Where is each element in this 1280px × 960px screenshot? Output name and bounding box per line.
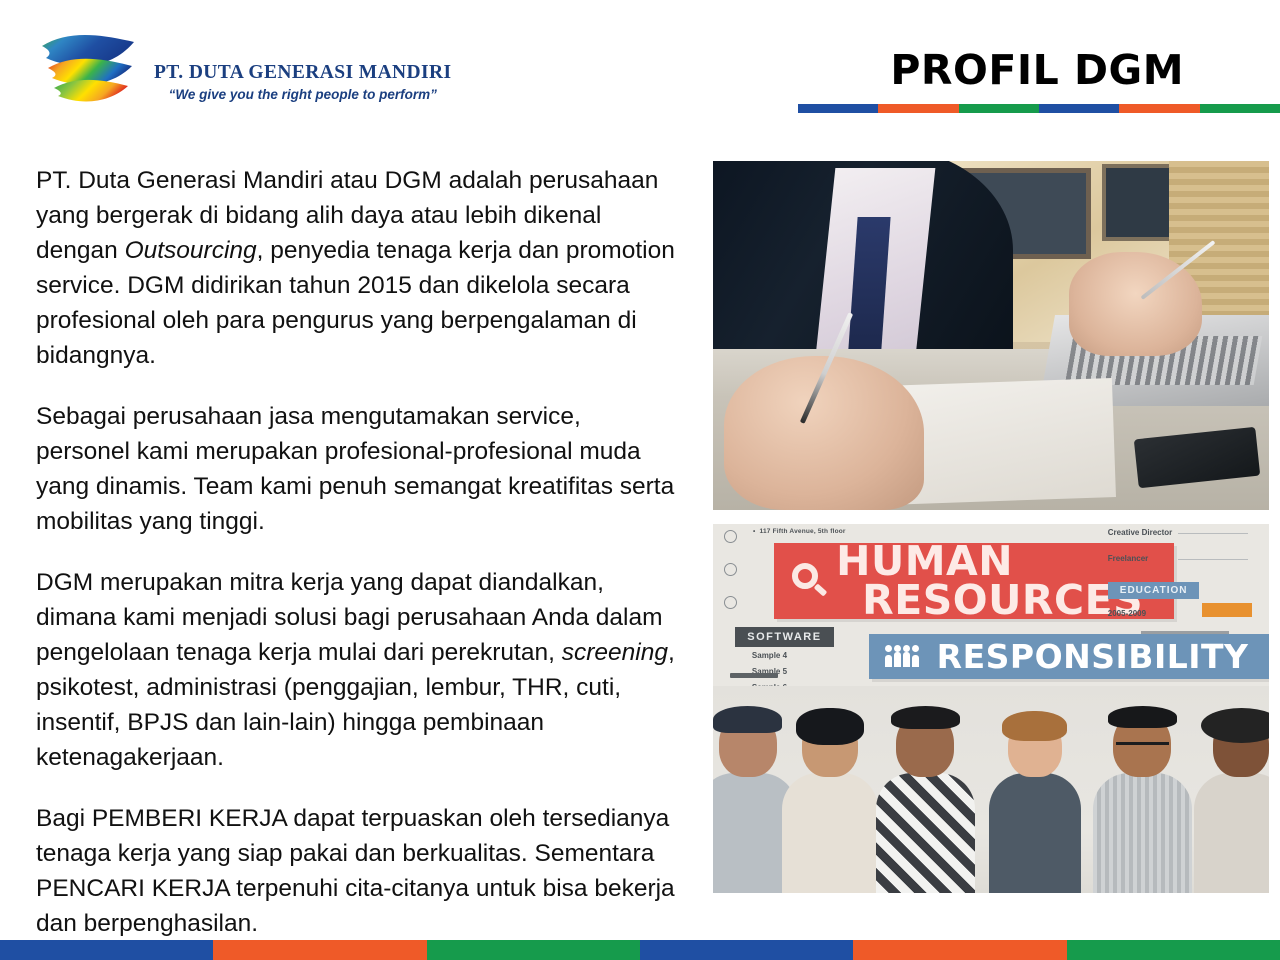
- team-member: [719, 712, 777, 893]
- hair: [891, 706, 961, 729]
- hair: [1108, 706, 1178, 728]
- accent-segment-4: [853, 940, 1066, 960]
- paragraph-p4: Bagi PEMBERI KERJA dapat terpuaskan oleh…: [36, 801, 678, 941]
- accent-segment-1: [878, 104, 958, 113]
- company-tagline: “We give you the right people to perform…: [154, 87, 451, 102]
- team-member: [802, 714, 858, 893]
- people-group-icon: [885, 645, 919, 667]
- plaid-shirt: [876, 773, 975, 893]
- list-item: Sample 4: [752, 648, 787, 664]
- company-name: PT. DUTA GENERASI MANDIRI: [154, 62, 451, 84]
- responsibility-banner-label: RESPONSIBILITY: [937, 637, 1249, 676]
- location-icon: [724, 530, 737, 543]
- hr-scene: 117 Fifth Avenue, 5th floor HUMAN RESOUR…: [713, 524, 1269, 893]
- team-member: [1008, 717, 1062, 893]
- eyeglasses-icon: [1116, 742, 1169, 750]
- footer-accent-rule: [0, 940, 1280, 960]
- human-resources-infographic-photo: 117 Fifth Avenue, 5th floor HUMAN RESOUR…: [713, 524, 1269, 893]
- office-scene: [713, 161, 1269, 510]
- office-meeting-photo: [713, 161, 1269, 510]
- header-accent-rule: [798, 104, 1280, 113]
- globe-icon: [724, 596, 737, 609]
- hr-banner-line2: RESOURCES: [862, 581, 1143, 620]
- company-logo: PT. DUTA GENERASI MANDIRI “We give you t…: [38, 28, 458, 114]
- page-title: PROFIL DGM: [890, 46, 1184, 94]
- paragraph-p1: PT. Duta Generasi Mandiri atau DGM adala…: [36, 163, 678, 373]
- team-member: [1113, 712, 1171, 893]
- accent-segment-5: [1067, 940, 1280, 960]
- hair: [1002, 711, 1067, 741]
- paragraph-p3: DGM merupakan mitra kerja yang dapat dia…: [36, 565, 678, 775]
- accent-segment-5: [1200, 104, 1280, 113]
- logo-wordmark: PT. DUTA GENERASI MANDIRI “We give you t…: [154, 28, 451, 102]
- hand-writing: [724, 356, 924, 510]
- text-run: Sebagai perusahaan jasa mengutamakan ser…: [36, 403, 674, 535]
- dgm-wave-logo-icon: [38, 28, 150, 112]
- accent-segment-2: [427, 940, 640, 960]
- responsibility-banner: RESPONSIBILITY: [869, 634, 1269, 679]
- accent-segment-4: [1119, 104, 1199, 113]
- checked-shirt: [1093, 773, 1192, 893]
- emphasis-text: screening: [562, 639, 668, 666]
- orange-accent-block: [1202, 603, 1252, 617]
- role-label-creative-director: Creative Director: [1108, 528, 1264, 537]
- paragraph-p2: Sebagai perusahaan jasa mengutamakan ser…: [36, 399, 678, 539]
- accent-segment-1: [213, 940, 426, 960]
- hr-address-line: 117 Fifth Avenue, 5th floor: [753, 528, 846, 535]
- accent-segment-0: [798, 104, 878, 113]
- accent-segment-3: [1039, 104, 1119, 113]
- phone-icon: [724, 563, 737, 576]
- hair: [796, 708, 863, 744]
- turban: [713, 706, 782, 733]
- hr-banner-words: HUMAN RESOURCES: [836, 542, 1143, 619]
- team-member: [896, 712, 954, 893]
- magnifier-icon: [790, 561, 830, 601]
- text-run: Bagi PEMBERI KERJA dapat terpuaskan oleh…: [36, 805, 675, 937]
- accent-segment-3: [640, 940, 853, 960]
- profile-text-column: PT. Duta Generasi Mandiri atau DGM adala…: [36, 163, 678, 941]
- accent-segment-2: [959, 104, 1039, 113]
- role-label-freelancer: Freelancer: [1108, 554, 1264, 563]
- education-badge: EDUCATION: [1108, 582, 1200, 599]
- team-photo-row: [713, 686, 1269, 893]
- accent-segment-0: [0, 940, 213, 960]
- emphasis-text: Outsourcing: [125, 237, 257, 264]
- slide-root: PT. DUTA GENERASI MANDIRI “We give you t…: [0, 0, 1280, 960]
- software-badge: SOFTWARE: [735, 627, 833, 647]
- hr-left-bar: [730, 673, 778, 678]
- team-member: [1213, 714, 1269, 893]
